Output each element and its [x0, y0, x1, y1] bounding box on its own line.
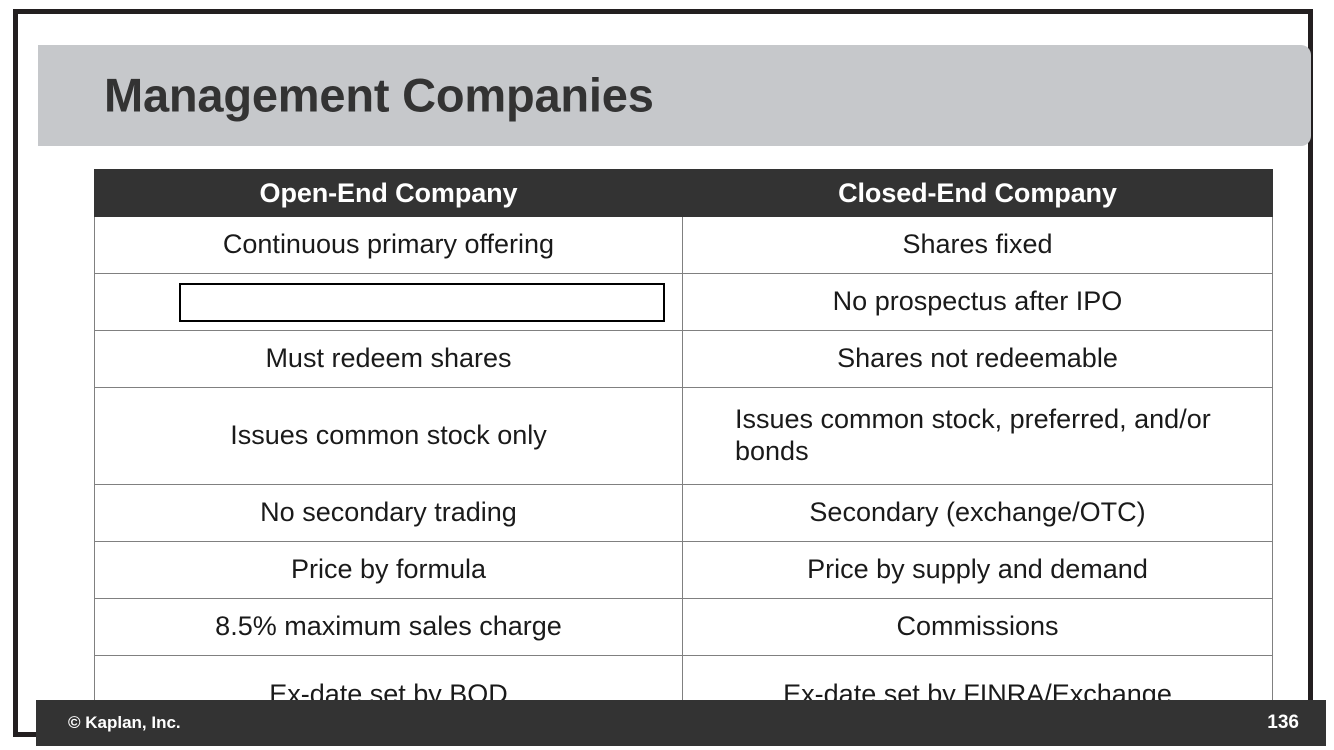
table-cell-closed-end: Price by supply and demand [683, 542, 1273, 599]
cell-text: Must redeem shares [105, 343, 672, 375]
table-cell-open-end-blank [95, 274, 683, 331]
table-cell-open-end: 8.5% maximum sales charge [95, 599, 683, 656]
table-row: No prospectus after IPO [95, 274, 1273, 331]
table-row: Price by formulaPrice by supply and dema… [95, 542, 1273, 599]
table-cell-closed-end: Secondary (exchange/OTC) [683, 485, 1273, 542]
column-header-closed-end: Closed-End Company [683, 170, 1273, 217]
cell-text: No prospectus after IPO [693, 286, 1262, 318]
cell-text: 8.5% maximum sales charge [105, 611, 672, 643]
table-cell-closed-end: Issues common stock, preferred, and/or b… [683, 388, 1273, 485]
table-cell-closed-end: Shares not redeemable [683, 331, 1273, 388]
blank-answer-field[interactable] [179, 283, 665, 322]
table-cell-open-end: No secondary trading [95, 485, 683, 542]
footer-page-number: 136 [1267, 712, 1299, 734]
table-row: Continuous primary offeringShares fixed [95, 217, 1273, 274]
table-cell-open-end: Must redeem shares [95, 331, 683, 388]
table-row: No secondary tradingSecondary (exchange/… [95, 485, 1273, 542]
table-header: Open-End Company Closed-End Company [95, 170, 1273, 217]
cell-text: Issues common stock only [105, 420, 672, 452]
footer-copyright: © Kaplan, Inc. [68, 713, 181, 733]
cell-text: Secondary (exchange/OTC) [693, 497, 1262, 529]
footer-bar: © Kaplan, Inc. 136 [36, 700, 1326, 746]
cell-text: Shares not redeemable [693, 343, 1262, 375]
table-row: Must redeem sharesShares not redeemable [95, 331, 1273, 388]
cell-text: Issues common stock, preferred, and/or b… [693, 404, 1262, 468]
column-header-open-end: Open-End Company [95, 170, 683, 217]
table-cell-closed-end: No prospectus after IPO [683, 274, 1273, 331]
table-cell-closed-end: Shares fixed [683, 217, 1273, 274]
table-cell-closed-end: Commissions [683, 599, 1273, 656]
title-band: Management Companies [38, 45, 1311, 146]
cell-text: Commissions [693, 611, 1262, 643]
cell-text: Shares fixed [693, 229, 1262, 261]
cell-text: No secondary trading [105, 497, 672, 529]
comparison-table: Open-End Company Closed-End Company Cont… [94, 169, 1273, 735]
table-cell-open-end: Issues common stock only [95, 388, 683, 485]
slide-frame: Management Companies Open-End Company Cl… [13, 9, 1313, 737]
table-row: 8.5% maximum sales chargeCommissions [95, 599, 1273, 656]
table-body: Continuous primary offeringShares fixedN… [95, 217, 1273, 735]
table-cell-open-end: Continuous primary offering [95, 217, 683, 274]
cell-text: Continuous primary offering [105, 229, 672, 261]
table-cell-open-end: Price by formula [95, 542, 683, 599]
slide: Management Companies Open-End Company Cl… [0, 0, 1334, 750]
cell-text: Price by formula [105, 554, 672, 586]
cell-text: Price by supply and demand [693, 554, 1262, 586]
table-header-row: Open-End Company Closed-End Company [95, 170, 1273, 217]
table-row: Issues common stock onlyIssues common st… [95, 388, 1273, 485]
page-title: Management Companies [104, 67, 654, 122]
